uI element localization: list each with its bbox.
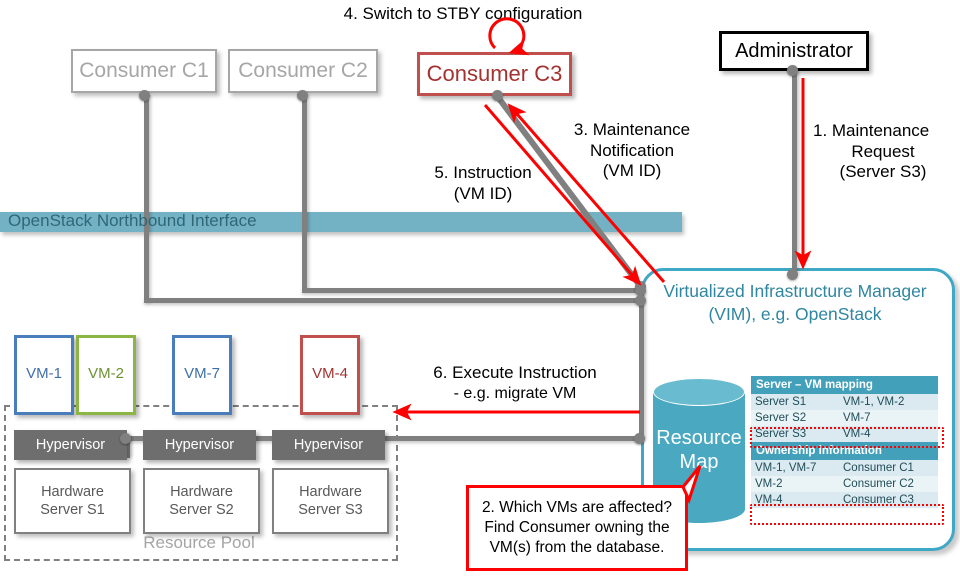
diagram-canvas: OpenStack Northbound Interface Virtualiz… bbox=[0, 0, 960, 586]
connector-c1-vertical bbox=[144, 95, 149, 303]
cell-server-s2-vms: VM-7 bbox=[839, 410, 938, 426]
table-header-server-vm-mapping-label: Server – VM mapping bbox=[751, 376, 938, 394]
connector-dot-bus-vim bbox=[634, 433, 645, 444]
cell-owner-vms-2: VM-2 bbox=[751, 476, 839, 492]
step-5-line1: 5. Instruction bbox=[398, 163, 568, 184]
hardware-server-s2: Hardware Server S2 bbox=[143, 468, 260, 534]
step-6-label: 6. Execute Instruction - e.g. migrate VM bbox=[400, 363, 630, 403]
step-3-line1: 3. Maintenance bbox=[557, 120, 707, 141]
connector-dot-vim-c1 bbox=[635, 295, 646, 306]
consumer-c2-box: Consumer C2 bbox=[228, 49, 378, 93]
openstack-northbound-label: OpenStack Northbound Interface bbox=[8, 211, 257, 231]
step-3-label: 3. Maintenance Notification (VM ID) bbox=[557, 120, 707, 182]
cell-server-s1: Server S1 bbox=[751, 394, 839, 410]
table-row-highlighted-vm-4: VM-4 Consumer C3 bbox=[751, 492, 938, 508]
step-1-line1: 1. Maintenance bbox=[813, 121, 953, 142]
vim-title-line2: (VIM), e.g. OpenStack bbox=[645, 303, 945, 326]
step-1-line2: Request bbox=[813, 142, 953, 163]
hardware-server-s2-line2: Server S2 bbox=[169, 502, 233, 518]
table-row: VM-1, VM-7 Consumer C1 bbox=[751, 460, 938, 476]
vm-box-vm-1: VM-1 bbox=[14, 335, 74, 415]
cell-owner-vms-3: VM-4 bbox=[751, 492, 839, 508]
step-3-line3: (VM ID) bbox=[557, 161, 707, 182]
cell-server-s3: Server S3 bbox=[751, 426, 839, 442]
connector-dot-c3 bbox=[492, 90, 503, 101]
connector-dot-admin bbox=[787, 65, 798, 76]
cell-owner-consumer-2: Consumer C2 bbox=[839, 476, 938, 492]
vim-title-line1: Virtualized Infrastructure Manager bbox=[645, 280, 945, 303]
cylinder-top bbox=[653, 378, 745, 406]
resource-map-table: Server – VM mapping Server S1 VM-1, VM-2… bbox=[751, 376, 938, 508]
table-row: Server S2 VM-7 bbox=[751, 410, 938, 426]
connector-vim-down bbox=[639, 290, 644, 440]
hypervisor-2: Hypervisor bbox=[143, 430, 256, 460]
step-2-line1: 2. Which VMs are affected? bbox=[482, 499, 672, 516]
connector-dot-c2 bbox=[297, 90, 308, 101]
table-header-ownership-information-label: Ownership information bbox=[751, 442, 938, 460]
resource-pool-label: Resource Pool bbox=[4, 533, 394, 553]
step-5-label: 5. Instruction (VM ID) bbox=[398, 163, 568, 204]
hardware-server-s3: Hardware Server S3 bbox=[272, 468, 389, 534]
hypervisor-3: Hypervisor bbox=[272, 430, 385, 460]
connector-c2-horizontal bbox=[302, 288, 644, 293]
step-2-line2: Find Consumer owning the bbox=[484, 519, 669, 536]
table-header-ownership-information: Ownership information bbox=[751, 442, 938, 460]
hypervisor-1: Hypervisor bbox=[14, 430, 127, 460]
step-1-label: 1. Maintenance Request (Server S3) bbox=[813, 121, 953, 183]
consumer-c1-box: Consumer C1 bbox=[71, 49, 217, 93]
step-6-line2: - e.g. migrate VM bbox=[400, 384, 630, 404]
hardware-server-s1-line2: Server S1 bbox=[40, 502, 104, 518]
resource-map-label-line2: Map bbox=[653, 450, 745, 474]
cell-owner-consumer-3: Consumer C3 bbox=[839, 492, 938, 508]
connector-dot-vim-top bbox=[787, 269, 798, 280]
step-2-line3: VM(s) from the database. bbox=[490, 539, 665, 556]
hardware-server-s1-line1: Hardware bbox=[41, 484, 104, 500]
cell-owner-vms-1: VM-1, VM-7 bbox=[751, 460, 839, 476]
connector-c2-vertical bbox=[302, 95, 307, 291]
vm-box-vm-7: VM-7 bbox=[172, 335, 232, 415]
connector-dot-c1 bbox=[139, 90, 150, 101]
vm-box-vm-2: VM-2 bbox=[76, 335, 136, 415]
step-3-line2: Notification bbox=[557, 141, 707, 162]
table-row: Server S1 VM-1, VM-2 bbox=[751, 394, 938, 410]
resource-map-label-line1: Resource bbox=[653, 426, 745, 450]
hardware-server-s3-line2: Server S3 bbox=[298, 502, 362, 518]
cell-server-s1-vms: VM-1, VM-2 bbox=[839, 394, 938, 410]
step-1-line3: (Server S3) bbox=[813, 162, 953, 183]
hardware-server-s1: Hardware Server S1 bbox=[14, 468, 131, 534]
table-header-server-vm-mapping: Server – VM mapping bbox=[751, 376, 938, 394]
table-row-highlighted-server-s3: Server S3 VM-4 bbox=[751, 426, 938, 442]
cell-server-s3-vms: VM-4 bbox=[839, 426, 938, 442]
hardware-server-s3-line1: Hardware bbox=[299, 484, 362, 500]
table-row: VM-2 Consumer C2 bbox=[751, 476, 938, 492]
step-2-callout: 2. Which VMs are affected? Find Consumer… bbox=[466, 485, 688, 571]
step-6-line1: 6. Execute Instruction bbox=[400, 363, 630, 384]
resource-map-label: Resource Map bbox=[653, 426, 745, 474]
connector-dot-bus-pool bbox=[120, 433, 131, 444]
connector-admin-vertical bbox=[792, 70, 797, 274]
vm-box-vm-4: VM-4 bbox=[300, 335, 360, 415]
step-5-line2: (VM ID) bbox=[398, 184, 568, 205]
cell-server-s2: Server S2 bbox=[751, 410, 839, 426]
connector-c1-horizontal bbox=[144, 298, 644, 303]
hardware-server-s2-line1: Hardware bbox=[170, 484, 233, 500]
vim-title: Virtualized Infrastructure Manager (VIM)… bbox=[645, 280, 945, 326]
step-4-label: 4. Switch to STBY configuration bbox=[318, 4, 608, 25]
cell-owner-consumer-1: Consumer C1 bbox=[839, 460, 938, 476]
